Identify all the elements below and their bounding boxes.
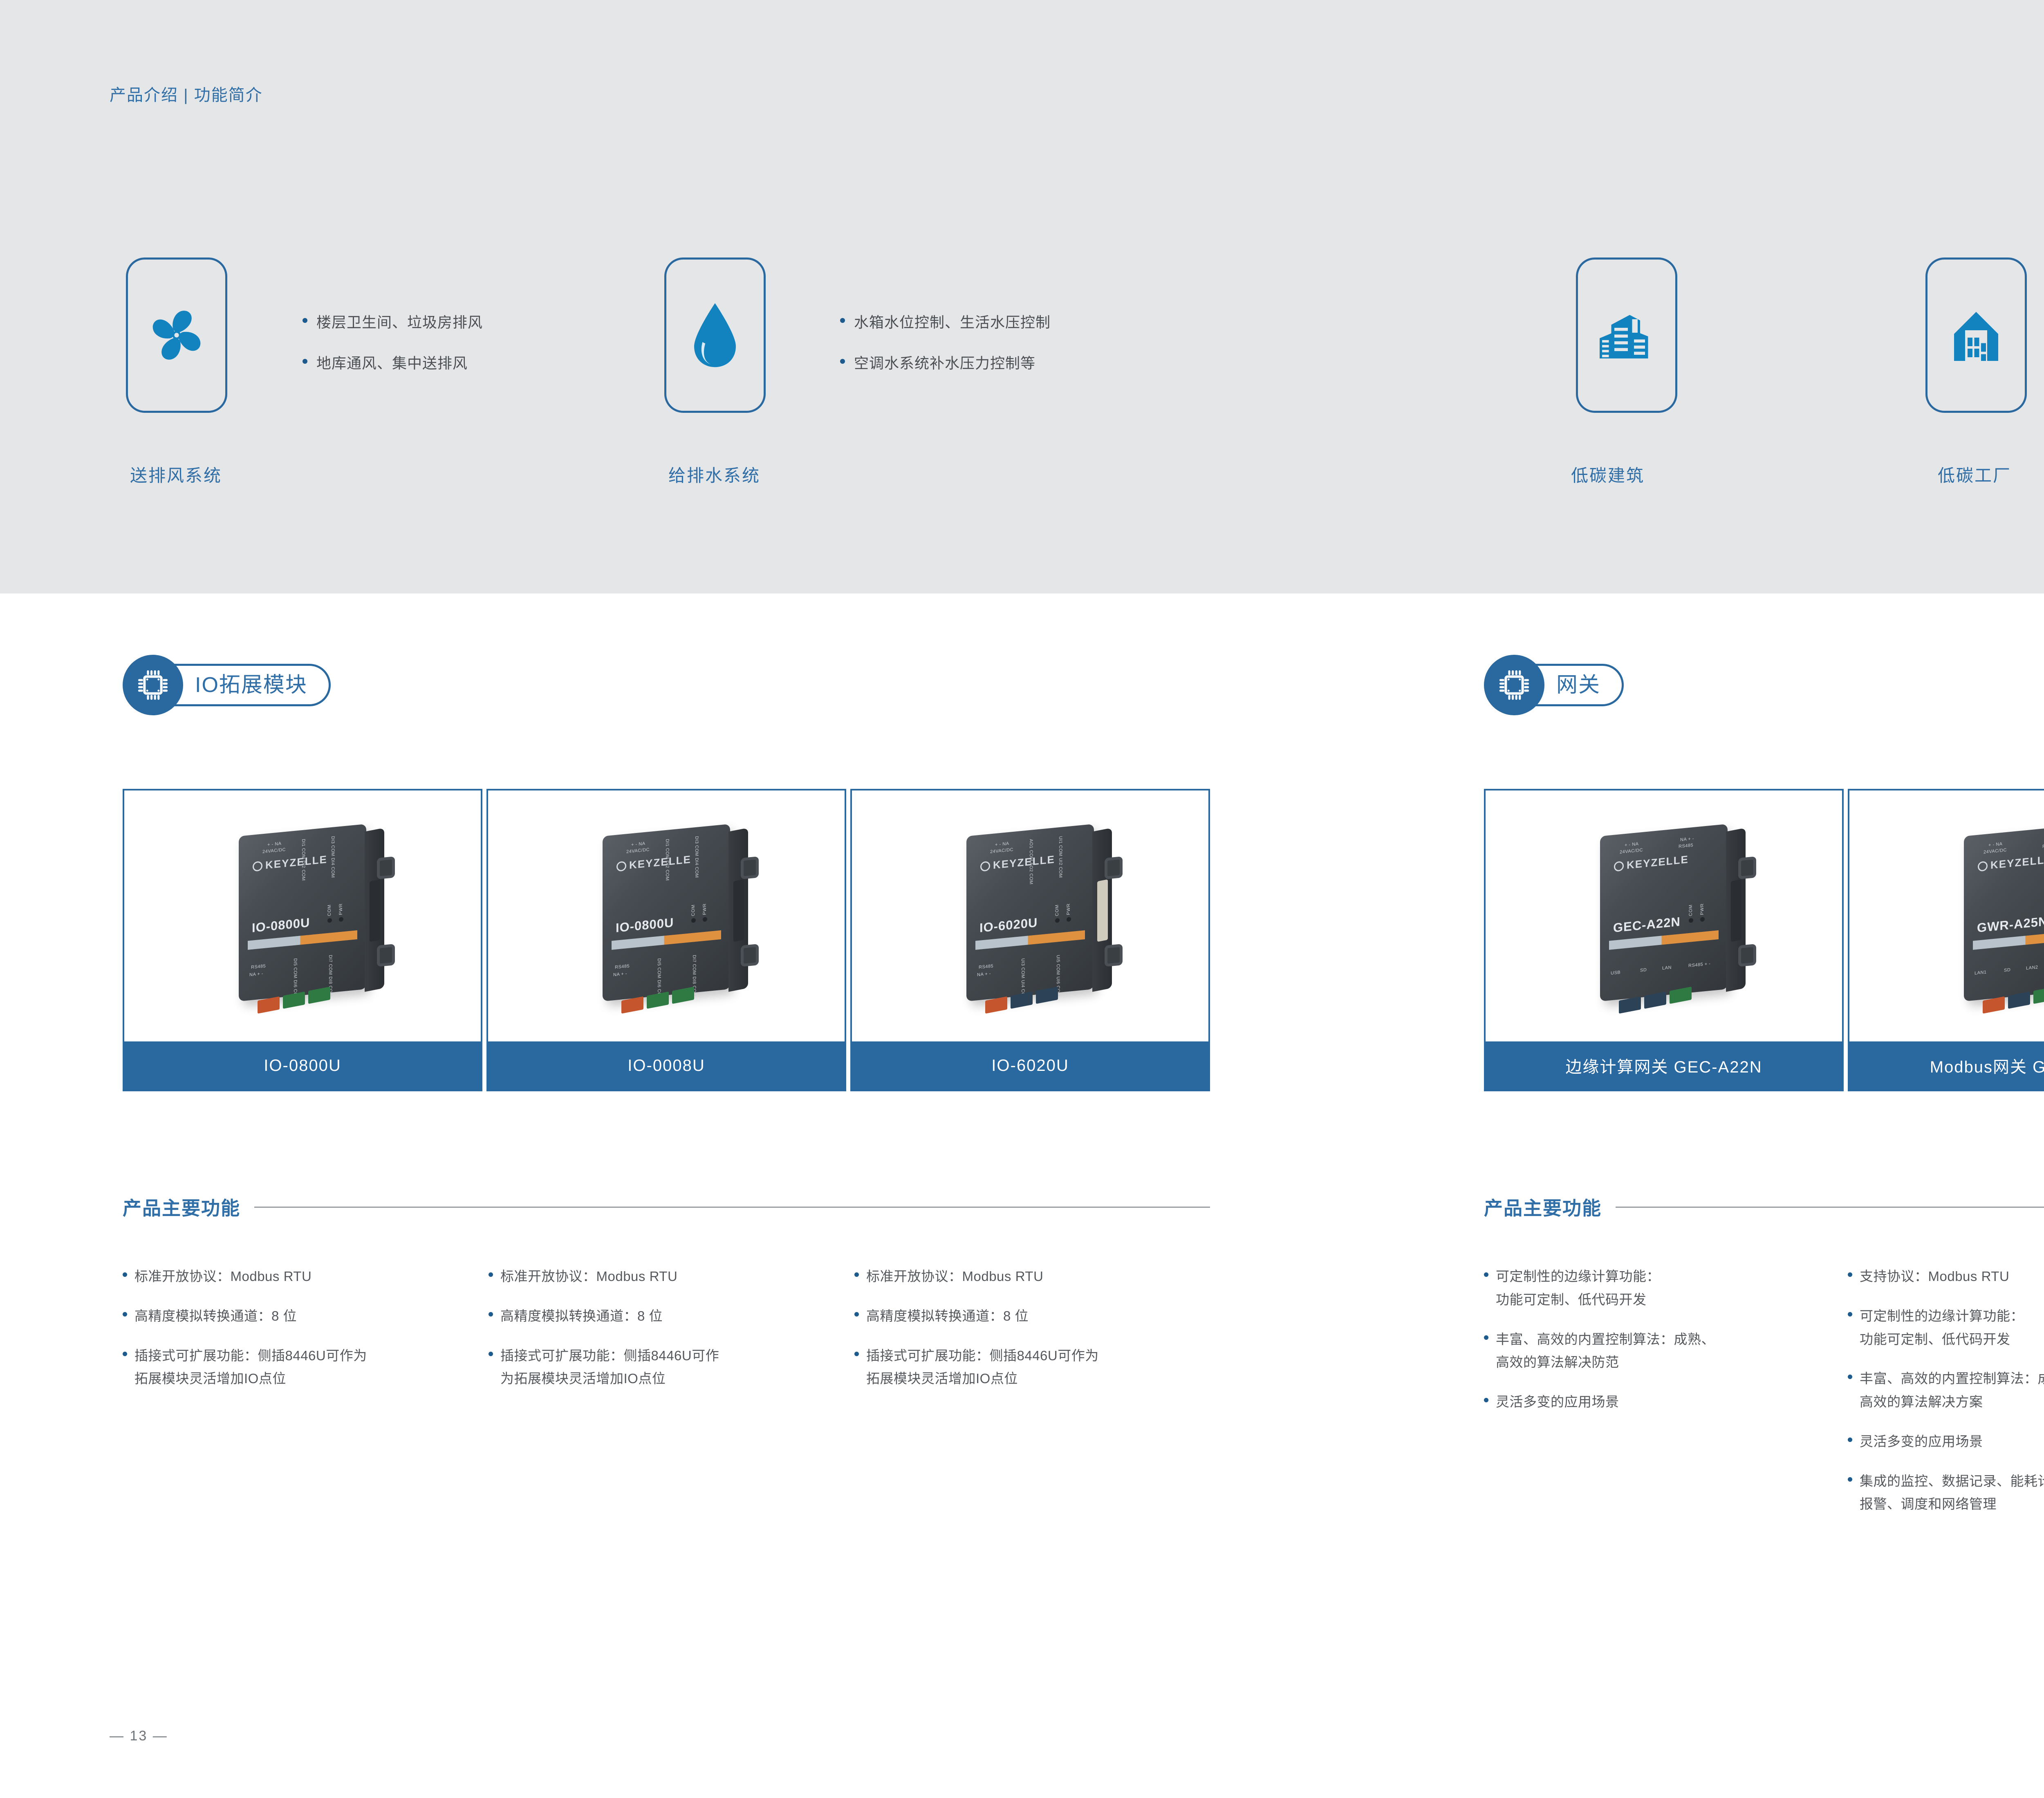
bullet-text: 水箱水位控制、生活水压控制 [854, 311, 1051, 332]
header-title-left: 产品介绍 | 功能简介 [110, 82, 263, 105]
device-brand: KEYZELLE [253, 853, 327, 873]
bullet-dot-icon [1484, 1272, 1488, 1277]
list-item: 丰富、高效的内置控制算法：成熟、 高效的算法解决方案 [1848, 1367, 2044, 1414]
device-port-label: DI1 COM DI2 COM [301, 839, 306, 881]
bullet-dot-icon [1484, 1335, 1488, 1340]
device-port-label: NA + - [613, 971, 627, 977]
water-bullet-list: 水箱水位控制、生活水压控制 空调水系统补水压力控制等 [840, 311, 1051, 373]
list-item: 高精度模拟转换通道：8 位 [854, 1305, 1210, 1328]
bullet-text: 标准开放协议：Modbus RTU [500, 1265, 677, 1288]
bullet-text: 高精度模拟转换通道：8 位 [134, 1305, 297, 1328]
list-item: 可定制性的边缘计算功能： 功能可定制、低代码开发 [1848, 1305, 2044, 1351]
product-label: 边缘计算网关 GEC-A22N [1486, 1041, 1842, 1090]
device-model-text: GEC-A22N [1613, 914, 1681, 936]
bullet-dot-icon [1848, 1272, 1852, 1277]
product-image: KEYZELLE + - NA 24VAC/DC DI1 COM DI2 COM… [488, 790, 845, 1041]
device-port-label: DI1 COM DI2 COM [665, 839, 670, 881]
bullet-dot-icon [123, 1312, 127, 1317]
device-model-text: IO-0800U [616, 915, 674, 936]
fan-bullet-list: 楼层卫生间、垃圾房排风 地库通风、集中送排风 [303, 311, 483, 373]
product-card[interactable]: KEYZELLE + - NA 24VAC/DC DI1 COM DI2 COM… [123, 789, 482, 1091]
section-title-label: IO拓展模块 [195, 674, 307, 696]
bullet-dot-icon [1848, 1477, 1852, 1482]
bullet-text: 可定制性的边缘计算功能： 功能可定制、低代码开发 [1496, 1265, 1660, 1312]
device-status-leds: COM PWR [327, 903, 343, 923]
water-drop-icon [684, 300, 746, 370]
device-port-label: SD [1640, 967, 1647, 973]
list-item: 水箱水位控制、生活水压控制 [840, 311, 1051, 332]
device-port-label: + - NA [631, 841, 645, 847]
device-port-label: + - NA [1988, 842, 2002, 848]
device-terminal-connectors [1619, 987, 1692, 1014]
product-image: KEYZELLE + - NA 24VAC/DC AO1 COM AO2 COM… [852, 790, 1208, 1041]
device-port-label: DI3 COM DI4 COM [694, 836, 699, 878]
device-port-label: 24VAC/DC [1620, 848, 1643, 855]
device-port-label: USB [1611, 970, 1620, 976]
device-port-label: RS485 [1679, 843, 1693, 849]
device-status-leds: COM PWR [1688, 903, 1705, 923]
bullet-text: 插接式可扩展功能：侧插8446U可作 为拓展模块灵活增加IO点位 [500, 1344, 719, 1391]
bullet-dot-icon [303, 359, 307, 364]
bullet-dot-icon [854, 1272, 859, 1277]
device-port-label: + - NA [995, 841, 1009, 847]
bullet-dot-icon [123, 1272, 127, 1277]
device-illustration: KEYZELLE + - NA 24VAC/DC NA + - RS485 GE… [1600, 830, 1728, 995]
device-port-label: + - NA [267, 841, 281, 847]
product-card[interactable]: KEYZELLE + - NA 24VAC/DC AO1 COM AO2 COM… [850, 789, 1210, 1091]
bullet-dot-icon [1848, 1312, 1852, 1317]
device-port-label: RS485 [979, 964, 993, 970]
device-model-text: IO-6020U [979, 915, 1038, 936]
factory-icon [1945, 305, 2007, 366]
chip-icon [1484, 655, 1544, 715]
led-pwr: PWR [1700, 903, 1705, 922]
bullet-text: 丰富、高效的内置控制算法：成熟、 高效的算法解决方案 [1860, 1367, 2044, 1414]
list-item: 集成的监控、数据记录、能耗计量、 报警、调度和网络管理 [1848, 1470, 2044, 1516]
chip-icon-glyph [1497, 667, 1532, 703]
bullet-text: 标准开放协议：Modbus RTU [134, 1265, 312, 1288]
device-port-label: RS485 [251, 964, 266, 970]
list-item: 高精度模拟转换通道：8 位 [123, 1305, 478, 1328]
brand-text: KEYZELLE [1990, 853, 2044, 872]
list-item: 空调水系统补水压力控制等 [840, 352, 1051, 373]
bullet-text: 集成的监控、数据记录、能耗计量、 报警、调度和网络管理 [1860, 1470, 2044, 1516]
bullet-dot-icon [123, 1352, 127, 1356]
bullet-text: 可定制性的边缘计算功能： 功能可定制、低代码开发 [1860, 1305, 2024, 1351]
brand-text: KEYZELLE [629, 853, 691, 872]
product-card[interactable]: KEYZELLE + - NA 24VAC/DC DI1 COM DI2 COM… [486, 789, 846, 1091]
chip-icon-glyph [135, 667, 170, 703]
features-heading-left: 产品主要功能 [123, 1193, 1210, 1220]
list-item: 标准开放协议：Modbus RTU [489, 1265, 844, 1288]
device-port-label: + - NA [1625, 842, 1638, 848]
list-item: 地库通风、集中送排风 [303, 352, 483, 373]
bullet-dot-icon [489, 1272, 493, 1277]
device-status-leds: COM PWR [1055, 903, 1071, 923]
led-com: COM [327, 904, 332, 923]
section-header-io-modules: IO拓展模块 [123, 655, 331, 715]
system-card-water-tile [664, 257, 766, 413]
device-port-label: DI3 COM DI4 COM [330, 836, 335, 878]
heading-rule [1616, 1207, 2044, 1208]
device-port-label: NA + - [977, 971, 991, 977]
bullet-text: 丰富、高效的内置控制算法：成熟、 高效的算法解决防范 [1496, 1328, 1715, 1375]
brand-mark-icon [253, 861, 262, 871]
product-label: IO-0008U [488, 1041, 845, 1090]
fan-icon [144, 302, 209, 368]
list-item: 丰富、高效的内置控制算法：成熟、 高效的算法解决防范 [1484, 1328, 1836, 1375]
brand-text: KEYZELLE [265, 853, 327, 872]
device-port-label: RS485 [2042, 843, 2044, 849]
scene-card-building-caption: 低碳建筑 [1571, 462, 1645, 487]
device-model-text: GWR-A25N [1977, 914, 2044, 936]
list-item: 插接式可扩展功能：侧插8446U可作 为拓展模块灵活增加IO点位 [489, 1344, 844, 1391]
page-number-left: — 13 — [110, 1728, 168, 1744]
scene-card-factory-tile [1925, 257, 2027, 413]
top-gray-band [0, 0, 2044, 593]
list-item: 高精度模拟转换通道：8 位 [489, 1305, 844, 1328]
device-brand: KEYZELLE [616, 853, 691, 873]
bullet-text: 支持协议：Modbus RTU [1860, 1265, 2009, 1288]
device-illustration: KEYZELLE + - NA 24VAC/DC NA + - RS485 GW… [1964, 830, 2044, 995]
device-port-label: 24VAC/DC [990, 847, 1013, 854]
brand-text: KEYZELLE [993, 853, 1055, 872]
product-image: KEYZELLE + - NA 24VAC/DC NA + - RS485 GW… [1849, 790, 2044, 1041]
device-port-label: AO1 COM AO2 COM [1029, 839, 1033, 885]
led-pwr: PWR [1066, 903, 1071, 922]
bullet-dot-icon [840, 318, 845, 323]
device-port-label: LAN [1662, 965, 1672, 971]
bullet-text: 插接式可扩展功能：侧插8446U可作为 拓展模块灵活增加IO点位 [866, 1344, 1099, 1391]
list-item: 支持协议：Modbus RTU [1848, 1265, 2044, 1288]
brand-mark-icon [1978, 861, 1988, 871]
device-port-label: 24VAC/DC [626, 847, 650, 854]
led-com: COM [1688, 904, 1693, 923]
led-pwr: PWR [338, 903, 343, 922]
bullet-dot-icon [840, 359, 845, 364]
features-column: 支持协议：Modbus RTU 可定制性的边缘计算功能： 功能可定制、低代码开发… [1848, 1265, 2044, 1532]
product-label: Modbus网关 GWR-A25N [1849, 1041, 2044, 1090]
bullet-text: 灵活多变的应用场景 [1496, 1390, 1619, 1414]
led-pwr: PWR [702, 903, 707, 922]
chip-icon [123, 655, 183, 715]
bullet-dot-icon [303, 318, 307, 323]
device-illustration: KEYZELLE + - NA 24VAC/DC DI1 COM DI2 COM… [603, 830, 730, 995]
led-com: COM [1055, 904, 1060, 923]
device-port-label: NA + - [249, 971, 263, 977]
product-label: IO-6020U [852, 1041, 1208, 1090]
bullet-text: 插接式可扩展功能：侧插8446U可作为 拓展模块灵活增加IO点位 [134, 1344, 367, 1391]
led-com: COM [691, 904, 696, 923]
bullet-text: 高精度模拟转换通道：8 位 [866, 1305, 1029, 1328]
product-image: KEYZELLE + - NA 24VAC/DC NA + - RS485 GE… [1486, 790, 1842, 1041]
scene-card-factory-caption: 低碳工厂 [1938, 462, 2011, 487]
bullet-dot-icon [489, 1352, 493, 1356]
bullet-dot-icon [854, 1312, 859, 1317]
bullet-text: 高精度模拟转换通道：8 位 [500, 1305, 663, 1328]
device-illustration: KEYZELLE + - NA 24VAC/DC AO1 COM AO2 COM… [966, 830, 1094, 995]
system-card-fan-caption: 送排风系统 [130, 462, 222, 487]
features-title: 产品主要功能 [1484, 1193, 1602, 1220]
product-card[interactable]: KEYZELLE + - NA 24VAC/DC NA + - RS485 GW… [1848, 789, 2044, 1091]
list-item: 灵活多变的应用场景 [1484, 1390, 1836, 1414]
bullet-dot-icon [1848, 1375, 1852, 1379]
brand-mark-icon [1614, 861, 1624, 871]
device-port-label: LAN1 [1975, 970, 1987, 976]
bullet-text: 空调水系统补水压力控制等 [854, 352, 1035, 373]
bullet-text: 楼层卫生间、垃圾房排风 [316, 311, 483, 332]
product-label: IO-0800U [124, 1041, 481, 1090]
device-status-leds: COM PWR [691, 903, 707, 923]
product-card[interactable]: KEYZELLE + - NA 24VAC/DC NA + - RS485 GE… [1484, 789, 1844, 1091]
list-item: 可定制性的边缘计算功能： 功能可定制、低代码开发 [1484, 1265, 1836, 1312]
list-item: 标准开放协议：Modbus RTU [123, 1265, 478, 1288]
scene-card-building-tile [1576, 257, 1677, 413]
device-port-label: LAN2 [2026, 965, 2038, 971]
product-image: KEYZELLE + - NA 24VAC/DC DI1 COM DI2 COM… [124, 790, 481, 1041]
office-building-icon [1596, 305, 1657, 366]
device-port-label: 24VAC/DC [1983, 848, 2007, 855]
device-port-label: 24VAC/DC [262, 847, 286, 854]
system-card-water-caption: 给排水系统 [668, 462, 760, 487]
device-port-label: RS485 + - [1688, 961, 1710, 968]
device-port-label: SD [2004, 967, 2010, 973]
brand-text: KEYZELLE [1627, 853, 1689, 872]
list-item: 插接式可扩展功能：侧插8446U可作为 拓展模块灵活增加IO点位 [123, 1344, 478, 1391]
section-header-gateways: 网关 [1484, 655, 1624, 715]
bullet-dot-icon [1848, 1438, 1852, 1442]
system-card-fan-tile [126, 257, 227, 413]
section-title-label: 网关 [1556, 674, 1600, 696]
list-item: 楼层卫生间、垃圾房排风 [303, 311, 483, 332]
features-column: 标准开放协议：Modbus RTU 高精度模拟转换通道：8 位 插接式可扩展功能… [489, 1265, 844, 1407]
bullet-dot-icon [489, 1312, 493, 1317]
device-model-text: IO-0800U [252, 915, 310, 936]
features-column: 标准开放协议：Modbus RTU 高精度模拟转换通道：8 位 插接式可扩展功能… [123, 1265, 478, 1407]
device-brand: KEYZELLE [1614, 853, 1689, 873]
list-item: 插接式可扩展功能：侧插8446U可作为 拓展模块灵活增加IO点位 [854, 1344, 1210, 1391]
heading-rule [254, 1207, 1210, 1208]
device-brand: KEYZELLE [1978, 853, 2044, 873]
list-item: 灵活多变的应用场景 [1848, 1430, 2044, 1453]
bullet-text: 地库通风、集中送排风 [316, 352, 468, 373]
brand-mark-icon [980, 861, 990, 871]
features-title: 产品主要功能 [123, 1193, 240, 1220]
bullet-text: 标准开放协议：Modbus RTU [866, 1265, 1043, 1288]
device-port-label: RS485 [615, 964, 630, 970]
features-column: 标准开放协议：Modbus RTU 高精度模拟转换通道：8 位 插接式可扩展功能… [854, 1265, 1210, 1407]
device-illustration: KEYZELLE + - NA 24VAC/DC DI1 COM DI2 COM… [239, 830, 366, 995]
device-port-label: UI1 COM UI2 COM [1058, 836, 1063, 878]
device-port-label: NA + - [1680, 836, 1694, 842]
features-heading-right: 产品主要功能 [1484, 1193, 2044, 1220]
features-column: 可定制性的边缘计算功能： 功能可定制、低代码开发 丰富、高效的内置控制算法：成熟… [1484, 1265, 1836, 1430]
brand-mark-icon [616, 861, 626, 871]
device-brand: KEYZELLE [980, 853, 1055, 873]
bullet-dot-icon [854, 1352, 859, 1356]
bullet-dot-icon [1484, 1398, 1488, 1402]
bullet-text: 灵活多变的应用场景 [1860, 1430, 1983, 1453]
list-item: 标准开放协议：Modbus RTU [854, 1265, 1210, 1288]
device-terminal-connectors [1983, 987, 2044, 1014]
